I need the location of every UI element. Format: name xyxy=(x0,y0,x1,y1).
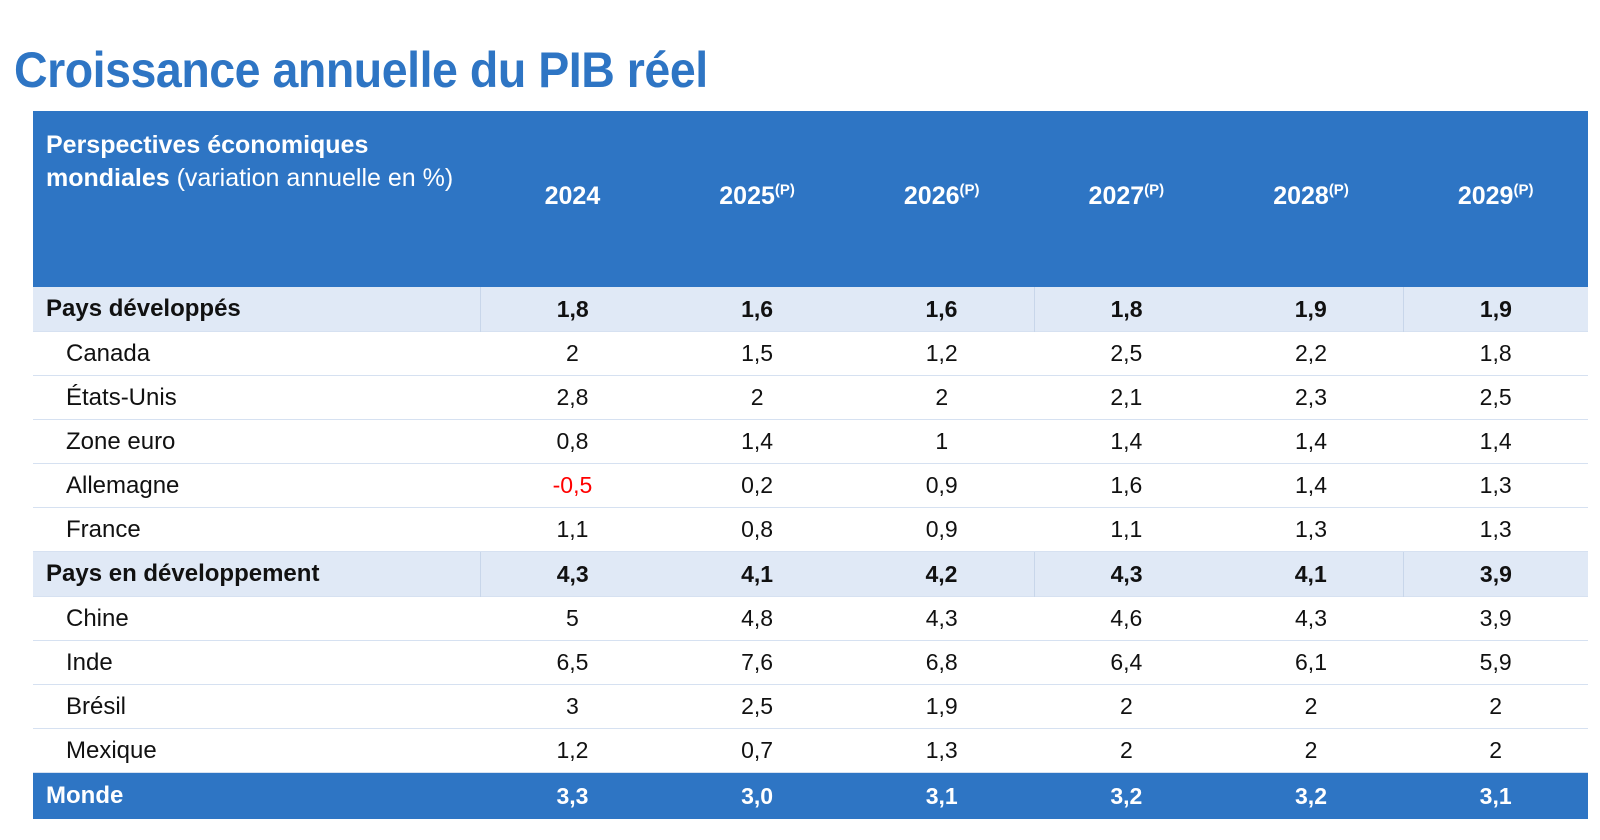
gdp-table-container: Perspectives économiques mondiales (vari… xyxy=(33,111,1588,819)
cell-value: 2,5 xyxy=(741,693,773,719)
cell-value: 6,8 xyxy=(926,649,958,675)
cell-value: 2,8 xyxy=(556,384,588,410)
column-header-2024: 2024 xyxy=(480,111,665,287)
column-header-year: 2027 xyxy=(1089,182,1145,210)
cell-value: 1,6 xyxy=(741,296,773,322)
cell-chine-2024: 5 xyxy=(480,597,665,641)
cell-monde-2027: 3,2 xyxy=(1034,773,1219,820)
cell-value: 5 xyxy=(566,605,579,631)
table-row: Mexique1,20,71,3222 xyxy=(33,729,1588,773)
cell-value: 3,9 xyxy=(1480,561,1512,587)
cell-value: 3,2 xyxy=(1110,783,1142,809)
cell--tats-unis-2028: 2,3 xyxy=(1219,376,1404,420)
row-label: Inde xyxy=(33,641,480,685)
page-title: Croissance annuelle du PIB réel xyxy=(14,40,708,100)
cell-value: 4,1 xyxy=(1295,561,1327,587)
cell-value: 4,3 xyxy=(1295,605,1327,631)
cell-france-2029: 1,3 xyxy=(1403,508,1588,552)
cell-canada-2027: 2,5 xyxy=(1034,332,1219,376)
column-header-projection-marker: (P) xyxy=(1329,181,1349,198)
cell-allemagne-2024: -0,5 xyxy=(480,464,665,508)
cell-zone-euro-2025: 1,4 xyxy=(665,420,850,464)
cell-pays-d-velopp-s-2028: 1,9 xyxy=(1219,287,1404,332)
column-header-projection-marker: (P) xyxy=(775,181,795,198)
cell-value: 2,1 xyxy=(1110,384,1142,410)
cell-monde-2029: 3,1 xyxy=(1403,773,1588,820)
cell-monde-2028: 3,2 xyxy=(1219,773,1404,820)
table-body: Pays développés1,81,61,61,81,91,9Canada2… xyxy=(33,287,1588,819)
cell-value: 4,3 xyxy=(1111,561,1143,587)
cell-value: 2 xyxy=(1305,693,1318,719)
cell-monde-2024: 3,3 xyxy=(480,773,665,820)
cell-pays-en-d-veloppement-2025: 4,1 xyxy=(665,552,850,597)
cell-pays-en-d-veloppement-2026: 4,2 xyxy=(849,552,1034,597)
cell-value: 1,8 xyxy=(1480,340,1512,366)
row-label: Canada xyxy=(33,332,480,376)
cell-value: 3,1 xyxy=(1480,783,1512,809)
cell-value: 3,3 xyxy=(556,783,588,809)
cell-value: 2 xyxy=(751,384,764,410)
cell-value: 0,7 xyxy=(741,737,773,763)
cell-allemagne-2027: 1,6 xyxy=(1034,464,1219,508)
cell-pays-d-velopp-s-2029: 1,9 xyxy=(1403,287,1588,332)
cell-mexique-2029: 2 xyxy=(1403,729,1588,773)
cell-value: 1,3 xyxy=(1480,516,1512,542)
table-row: France1,10,80,91,11,31,3 xyxy=(33,508,1588,552)
cell-inde-2028: 6,1 xyxy=(1219,641,1404,685)
cell-france-2024: 1,1 xyxy=(480,508,665,552)
cell-france-2028: 1,3 xyxy=(1219,508,1404,552)
cell-zone-euro-2027: 1,4 xyxy=(1034,420,1219,464)
cell-value: 1,9 xyxy=(1295,296,1327,322)
cell-canada-2025: 1,5 xyxy=(665,332,850,376)
column-header-year: 2026 xyxy=(904,182,960,210)
cell-value: 1,6 xyxy=(925,296,957,322)
cell-allemagne-2025: 0,2 xyxy=(665,464,850,508)
cell-inde-2029: 5,9 xyxy=(1403,641,1588,685)
cell-allemagne-2026: 0,9 xyxy=(849,464,1034,508)
cell-value: 6,5 xyxy=(556,649,588,675)
table-row: Allemagne-0,50,20,91,61,41,3 xyxy=(33,464,1588,508)
cell-mexique-2027: 2 xyxy=(1034,729,1219,773)
cell-allemagne-2028: 1,4 xyxy=(1219,464,1404,508)
cell-value: 0,8 xyxy=(556,428,588,454)
cell-value: 1,2 xyxy=(556,737,588,763)
cell-inde-2026: 6,8 xyxy=(849,641,1034,685)
cell-br-sil-2025: 2,5 xyxy=(665,685,850,729)
cell-mexique-2026: 1,3 xyxy=(849,729,1034,773)
cell-chine-2026: 4,3 xyxy=(849,597,1034,641)
column-header-projection-marker: (P) xyxy=(1513,181,1533,198)
cell-value: 5,9 xyxy=(1480,649,1512,675)
cell-value: 1,3 xyxy=(926,737,958,763)
cell-inde-2024: 6,5 xyxy=(480,641,665,685)
table-section-row: Pays en développement4,34,14,24,34,13,9 xyxy=(33,552,1588,597)
cell-br-sil-2028: 2 xyxy=(1219,685,1404,729)
row-label: Allemagne xyxy=(33,464,480,508)
column-header-projection-marker: (P) xyxy=(960,181,980,198)
table-header: Perspectives économiques mondiales (vari… xyxy=(33,111,1588,287)
table-row: Zone euro0,81,411,41,41,4 xyxy=(33,420,1588,464)
cell-mexique-2025: 0,7 xyxy=(665,729,850,773)
cell-value: 1,4 xyxy=(1480,428,1512,454)
cell-value: 4,1 xyxy=(741,561,773,587)
cell-value: 1,4 xyxy=(741,428,773,454)
cell-zone-euro-2024: 0,8 xyxy=(480,420,665,464)
cell-value: 0,9 xyxy=(926,472,958,498)
cell-value: 3,0 xyxy=(741,783,773,809)
cell-value: 0,8 xyxy=(741,516,773,542)
cell-value: 1,6 xyxy=(1110,472,1142,498)
cell-zone-euro-2026: 1 xyxy=(849,420,1034,464)
cell--tats-unis-2024: 2,8 xyxy=(480,376,665,420)
cell-pays-en-d-veloppement-2028: 4,1 xyxy=(1219,552,1404,597)
table-row: Canada21,51,22,52,21,8 xyxy=(33,332,1588,376)
table-row: Chine54,84,34,64,33,9 xyxy=(33,597,1588,641)
table-section-row: Pays développés1,81,61,61,81,91,9 xyxy=(33,287,1588,332)
row-label: Chine xyxy=(33,597,480,641)
cell-chine-2029: 3,9 xyxy=(1403,597,1588,641)
slide-canvas: Croissance annuelle du PIB réel Perspect… xyxy=(0,0,1600,840)
column-header-2028: 2028(P) xyxy=(1219,111,1404,287)
column-header-2027: 2027(P) xyxy=(1034,111,1219,287)
cell-value: 2 xyxy=(1120,737,1133,763)
cell-monde-2026: 3,1 xyxy=(849,773,1034,820)
table-row: Inde6,57,66,86,46,15,9 xyxy=(33,641,1588,685)
cell-value: 2,5 xyxy=(1480,384,1512,410)
cell-value: 2 xyxy=(1489,693,1502,719)
column-header-year: 2029 xyxy=(1458,182,1514,210)
cell-br-sil-2029: 2 xyxy=(1403,685,1588,729)
cell-canada-2026: 1,2 xyxy=(849,332,1034,376)
cell-value: -0,5 xyxy=(553,472,593,498)
cell-pays-d-velopp-s-2026: 1,6 xyxy=(849,287,1034,332)
row-label: Pays développés xyxy=(33,287,480,332)
cell-value: 1,1 xyxy=(1110,516,1142,542)
cell-canada-2029: 1,8 xyxy=(1403,332,1588,376)
cell-value: 2,3 xyxy=(1295,384,1327,410)
row-label: Mexique xyxy=(33,729,480,773)
cell-value: 6,1 xyxy=(1295,649,1327,675)
table-header-title: Perspectives économiques mondiales (vari… xyxy=(33,111,480,287)
cell-mexique-2028: 2 xyxy=(1219,729,1404,773)
cell-value: 7,6 xyxy=(741,649,773,675)
cell-inde-2025: 7,6 xyxy=(665,641,850,685)
cell-value: 1,1 xyxy=(556,516,588,542)
table-row: États-Unis2,8222,12,32,5 xyxy=(33,376,1588,420)
cell-br-sil-2024: 3 xyxy=(480,685,665,729)
cell-value: 1,3 xyxy=(1295,516,1327,542)
cell-pays-d-velopp-s-2024: 1,8 xyxy=(480,287,665,332)
cell-pays-en-d-veloppement-2029: 3,9 xyxy=(1403,552,1588,597)
cell-value: 4,6 xyxy=(1110,605,1142,631)
row-label: États-Unis xyxy=(33,376,480,420)
cell-pays-en-d-veloppement-2027: 4,3 xyxy=(1034,552,1219,597)
cell-value: 2 xyxy=(1120,693,1133,719)
cell-value: 1,8 xyxy=(557,296,589,322)
cell-value: 2,2 xyxy=(1295,340,1327,366)
cell-value: 1,5 xyxy=(741,340,773,366)
table-header-row: Perspectives économiques mondiales (vari… xyxy=(33,111,1588,287)
cell-value: 3 xyxy=(566,693,579,719)
cell-chine-2028: 4,3 xyxy=(1219,597,1404,641)
cell-canada-2028: 2,2 xyxy=(1219,332,1404,376)
cell-zone-euro-2028: 1,4 xyxy=(1219,420,1404,464)
column-header-2026: 2026(P) xyxy=(849,111,1034,287)
cell-mexique-2024: 1,2 xyxy=(480,729,665,773)
table-total-row: Monde3,33,03,13,23,23,1 xyxy=(33,773,1588,820)
cell-value: 4,2 xyxy=(925,561,957,587)
cell-allemagne-2029: 1,3 xyxy=(1403,464,1588,508)
cell-france-2026: 0,9 xyxy=(849,508,1034,552)
cell-value: 2,5 xyxy=(1110,340,1142,366)
cell-value: 1,9 xyxy=(926,693,958,719)
column-header-2029: 2029(P) xyxy=(1403,111,1588,287)
cell-pays-d-velopp-s-2025: 1,6 xyxy=(665,287,850,332)
cell-inde-2027: 6,4 xyxy=(1034,641,1219,685)
cell--tats-unis-2029: 2,5 xyxy=(1403,376,1588,420)
column-header-year: 2024 xyxy=(545,182,601,210)
cell-value: 4,8 xyxy=(741,605,773,631)
cell-zone-euro-2029: 1,4 xyxy=(1403,420,1588,464)
cell-br-sil-2026: 1,9 xyxy=(849,685,1034,729)
row-label: Brésil xyxy=(33,685,480,729)
row-label: Monde xyxy=(33,773,480,820)
cell-value: 2 xyxy=(935,384,948,410)
column-header-year: 2025 xyxy=(719,182,775,210)
cell-value: 4,3 xyxy=(557,561,589,587)
gdp-growth-table: Perspectives économiques mondiales (vari… xyxy=(33,111,1588,819)
cell-value: 3,2 xyxy=(1295,783,1327,809)
cell-value: 1,2 xyxy=(926,340,958,366)
cell-value: 1 xyxy=(935,428,948,454)
cell-value: 1,3 xyxy=(1480,472,1512,498)
cell-pays-d-velopp-s-2027: 1,8 xyxy=(1034,287,1219,332)
cell-value: 2 xyxy=(566,340,579,366)
cell-value: 4,3 xyxy=(926,605,958,631)
cell-value: 1,4 xyxy=(1110,428,1142,454)
cell-monde-2025: 3,0 xyxy=(665,773,850,820)
cell-value: 0,9 xyxy=(926,516,958,542)
cell-value: 1,9 xyxy=(1480,296,1512,322)
cell-chine-2027: 4,6 xyxy=(1034,597,1219,641)
cell-value: 6,4 xyxy=(1110,649,1142,675)
cell--tats-unis-2027: 2,1 xyxy=(1034,376,1219,420)
cell-value: 2 xyxy=(1489,737,1502,763)
cell-value: 3,1 xyxy=(926,783,958,809)
cell--tats-unis-2026: 2 xyxy=(849,376,1034,420)
column-header-2025: 2025(P) xyxy=(665,111,850,287)
cell-value: 2 xyxy=(1305,737,1318,763)
cell-value: 3,9 xyxy=(1480,605,1512,631)
table-header-title-note: (variation annuelle en %) xyxy=(170,164,454,192)
column-header-year: 2028 xyxy=(1273,182,1329,210)
cell--tats-unis-2025: 2 xyxy=(665,376,850,420)
cell-value: 1,8 xyxy=(1111,296,1143,322)
cell-canada-2024: 2 xyxy=(480,332,665,376)
cell-value: 1,4 xyxy=(1295,428,1327,454)
row-label: France xyxy=(33,508,480,552)
cell-value: 1,4 xyxy=(1295,472,1327,498)
cell-france-2025: 0,8 xyxy=(665,508,850,552)
table-row: Brésil32,51,9222 xyxy=(33,685,1588,729)
cell-value: 0,2 xyxy=(741,472,773,498)
column-header-projection-marker: (P) xyxy=(1144,181,1164,198)
row-label: Zone euro xyxy=(33,420,480,464)
cell-br-sil-2027: 2 xyxy=(1034,685,1219,729)
cell-france-2027: 1,1 xyxy=(1034,508,1219,552)
row-label: Pays en développement xyxy=(33,552,480,597)
cell-chine-2025: 4,8 xyxy=(665,597,850,641)
cell-pays-en-d-veloppement-2024: 4,3 xyxy=(480,552,665,597)
